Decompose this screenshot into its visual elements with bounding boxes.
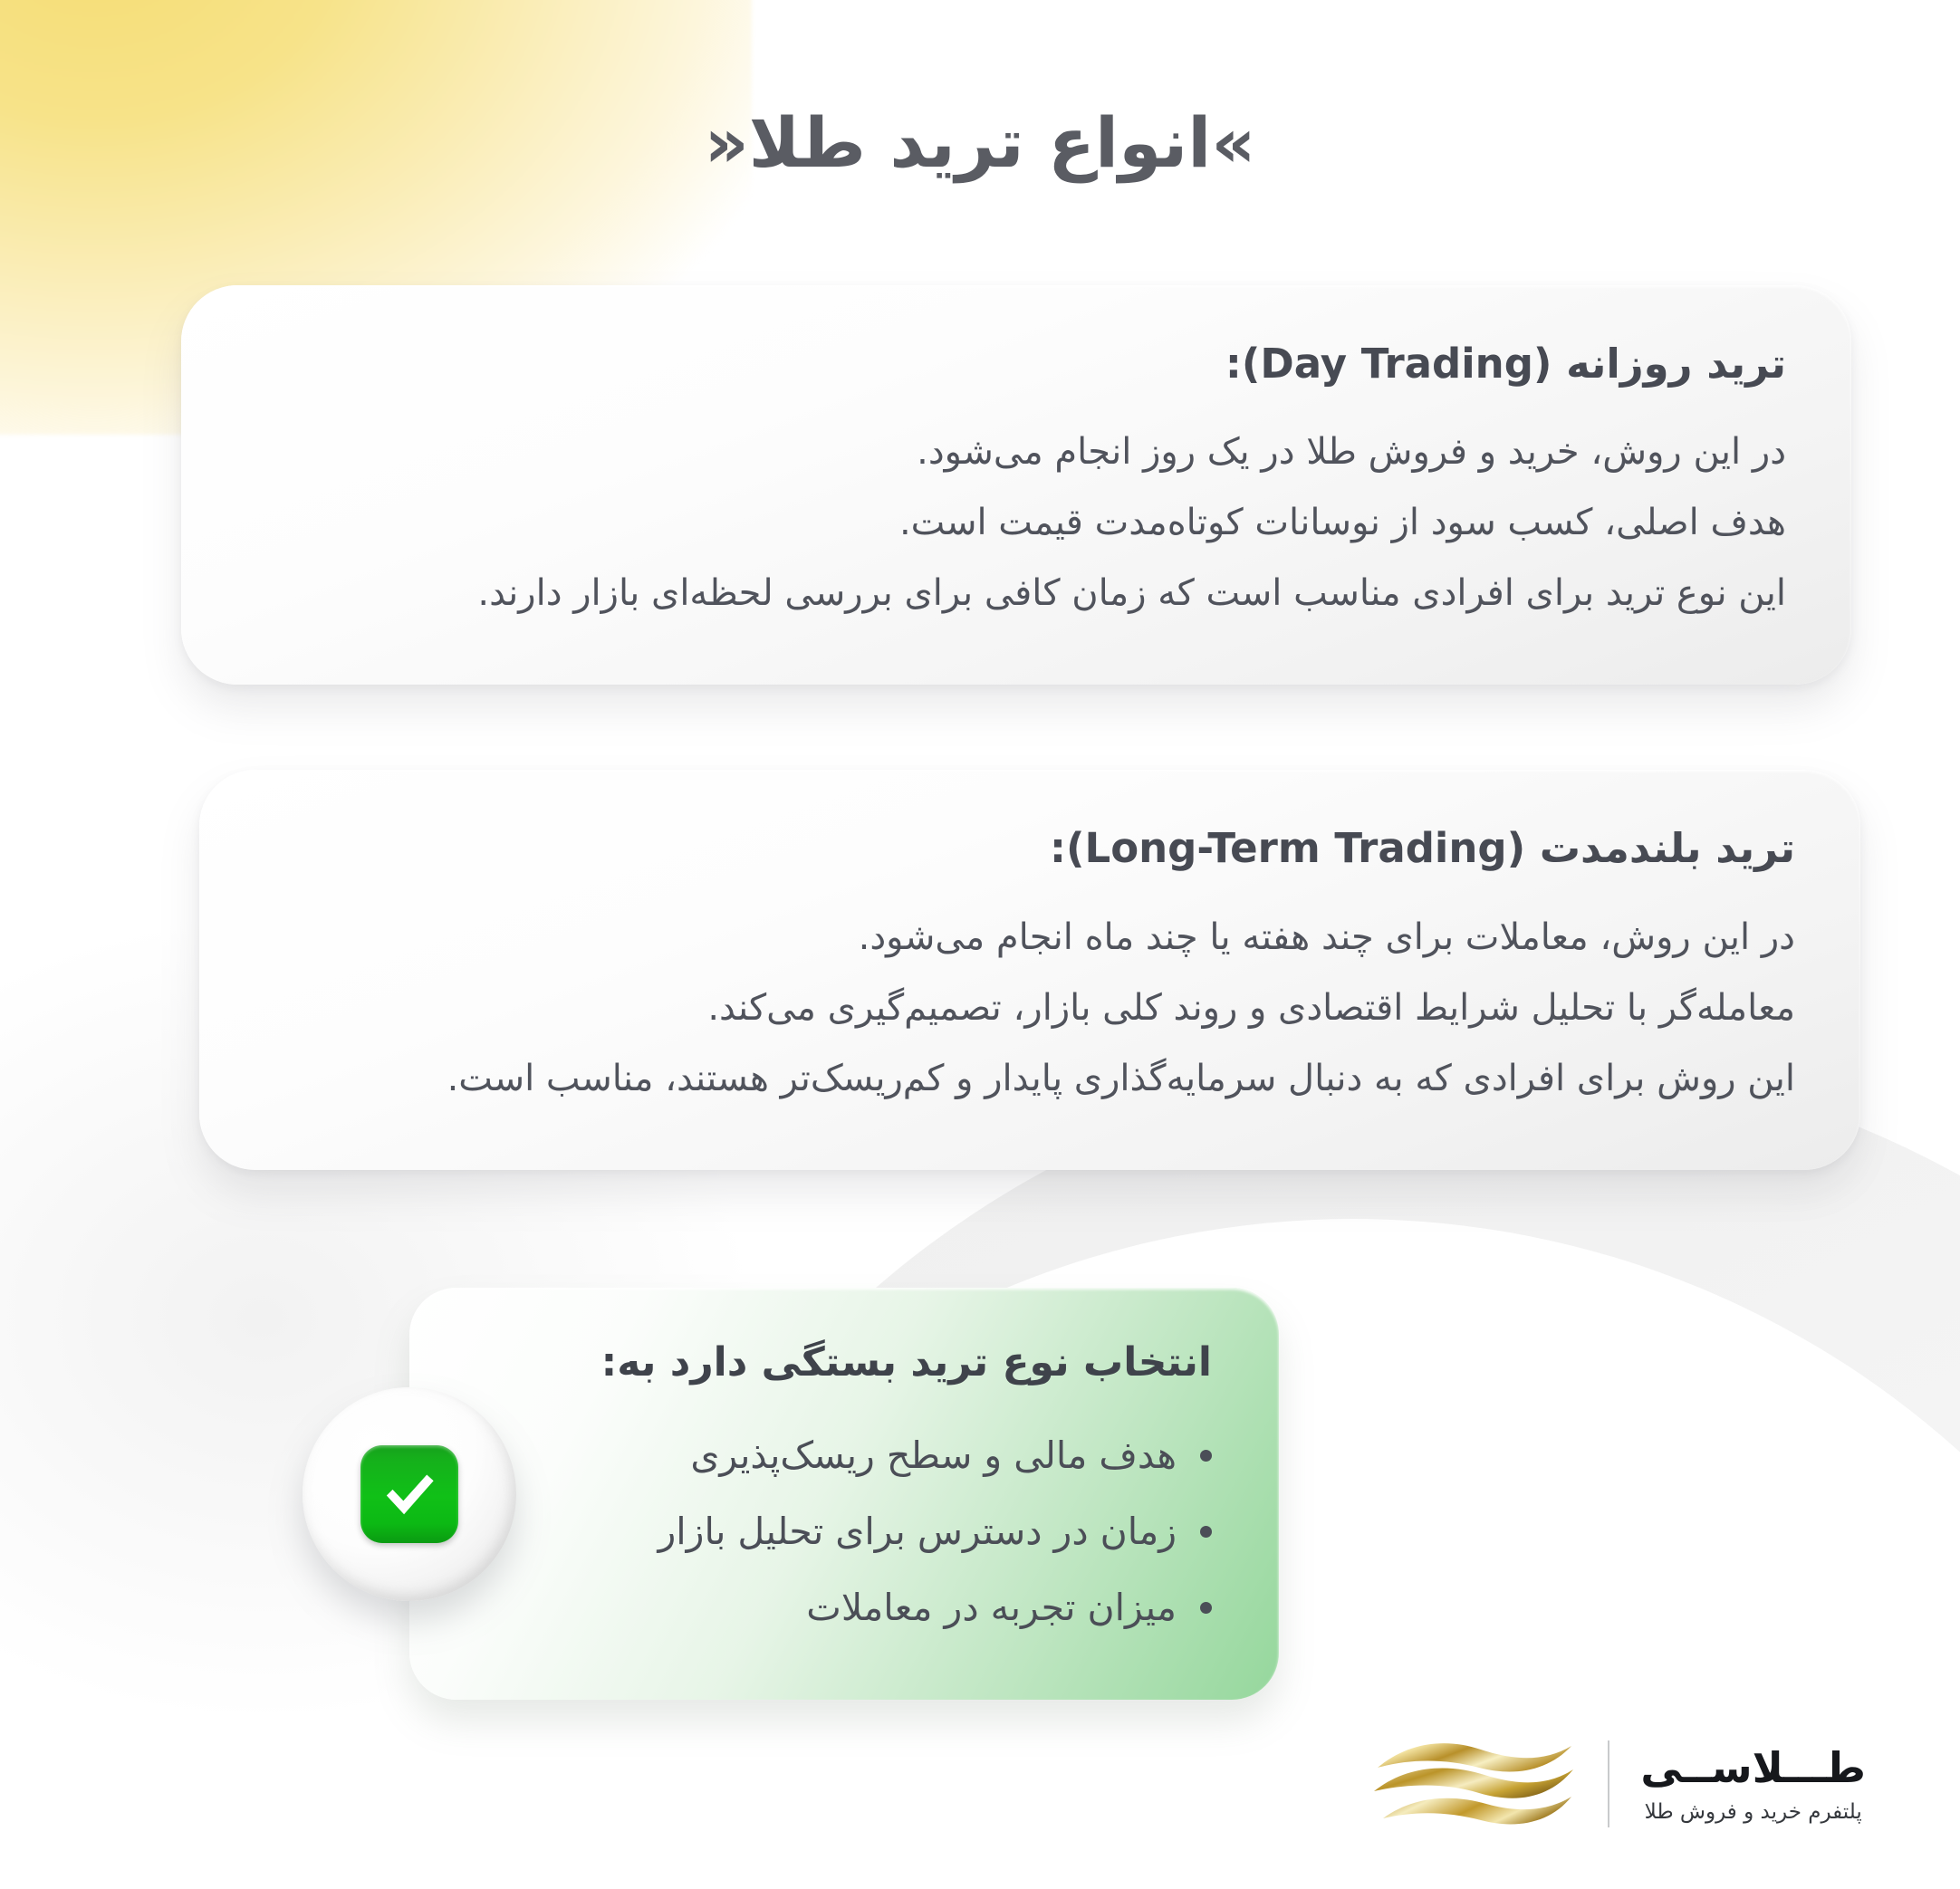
card-body-line: این نوع ترید برای افرادی مناسب است که زم… <box>246 558 1786 628</box>
card-body-line: معامله‌گر با تحلیل شرایط اقتصادی و روند … <box>264 973 1795 1043</box>
card-body-line: هدف اصلی، کسب سود از نوسانات کوتاه‌مدت ق… <box>246 487 1786 558</box>
gold-wave-logo-icon <box>1370 1735 1577 1833</box>
card-long-term-trading: ترید بلندمدت (Long-Term Trading): در این… <box>199 770 1860 1169</box>
card-heading: ترید روزانه (Day Trading): <box>246 334 1786 393</box>
brand-logo: طـــلاســی پلتفرم خرید و فروش طلا <box>1370 1735 1866 1833</box>
bullet-dot-icon <box>1200 1526 1212 1538</box>
brand-text: طـــلاســی پلتفرم خرید و فروش طلا <box>1613 1744 1866 1825</box>
list-item-label: هدف مالی و سطح ریسک‌پذیری <box>690 1417 1177 1493</box>
list-item-label: زمان در دسترس برای تحلیل بازار <box>658 1493 1177 1569</box>
card-body-line: این روش برای افرادی که به دنبال سرمایه‌گ… <box>264 1043 1795 1114</box>
infographic-page: »انواع ترید طلا« ترید روزانه (Day Tradin… <box>0 0 1960 1889</box>
brand-name: طـــلاســی <box>1640 1744 1866 1792</box>
conclusion-bullet-list: هدف مالی و سطح ریسک‌پذیری زمان در دسترس … <box>476 1417 1212 1645</box>
bullet-dot-icon <box>1200 1602 1212 1614</box>
page-title: »انواع ترید طلا« <box>100 0 1860 184</box>
card-body-line: در این روش، خرید و فروش طلا در یک روز ان… <box>246 417 1786 487</box>
list-item: زمان در دسترس برای تحلیل بازار <box>476 1493 1212 1569</box>
card-day-trading: ترید روزانه (Day Trading): در این روش، خ… <box>181 285 1851 685</box>
conclusion-heading: انتخاب نوع ترید بستگی دارد به: <box>476 1335 1212 1391</box>
conclusion-section: انتخاب نوع ترید بستگی دارد به: هدف مالی … <box>100 1288 1860 1701</box>
card-conclusion: انتخاب نوع ترید بستگی دارد به: هدف مالی … <box>409 1288 1279 1701</box>
bullet-dot-icon <box>1200 1450 1212 1462</box>
list-item: میزان تجربه در معاملات <box>476 1569 1212 1645</box>
footer: طـــلاســی پلتفرم خرید و فروش طلا <box>0 1735 1960 1833</box>
card-body-line: در این روش، معاملات برای چند هفته یا چند… <box>264 902 1795 973</box>
list-item-label: میزان تجربه در معاملات <box>806 1569 1177 1645</box>
logo-divider <box>1608 1740 1609 1827</box>
list-item: هدف مالی و سطح ریسک‌پذیری <box>476 1417 1212 1493</box>
check-mark-icon <box>360 1445 458 1543</box>
card-heading: ترید بلندمدت (Long-Term Trading): <box>264 819 1795 877</box>
check-badge <box>303 1387 516 1601</box>
brand-tagline: پلتفرم خرید و فروش طلا <box>1640 1800 1866 1824</box>
